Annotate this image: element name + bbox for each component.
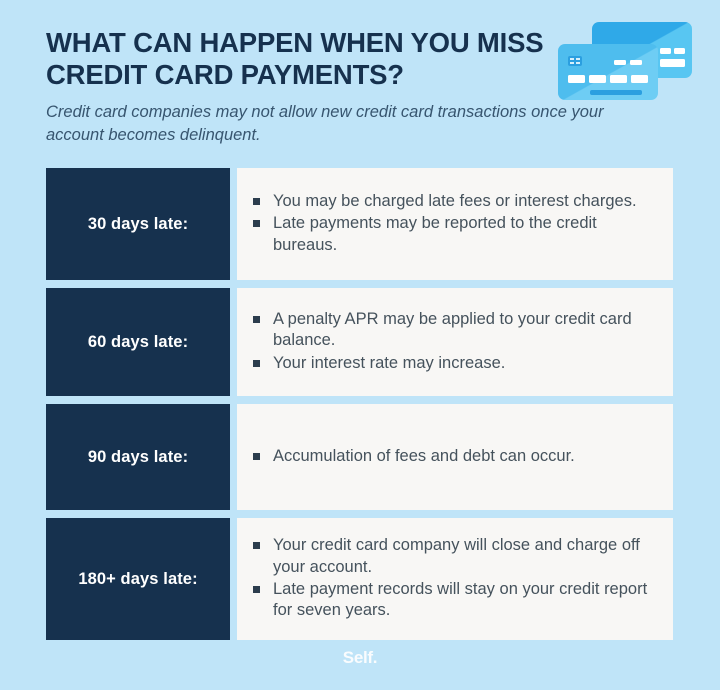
square-bullet-icon	[253, 360, 260, 367]
list-item-text: Late payments may be reported to the cre…	[273, 214, 597, 253]
consequences-table: 30 days late: You may be charged late fe…	[46, 168, 673, 640]
row-label-30-days: 30 days late:	[46, 168, 230, 280]
row-label-60-days: 60 days late:	[46, 288, 230, 396]
row-label-180-days: 180+ days late:	[46, 518, 230, 640]
list-item: Your interest rate may increase.	[251, 353, 655, 374]
table-row: 180+ days late: Your credit card company…	[46, 518, 673, 640]
list-item: Your credit card company will close and …	[251, 535, 655, 578]
brand-logo: Self.	[343, 648, 377, 667]
list-item: Late payments may be reported to the cre…	[251, 213, 655, 256]
list-item: Late payment records will stay on your c…	[251, 579, 655, 622]
row-body-180-days: Your credit card company will close and …	[237, 518, 673, 640]
table-row: 30 days late: You may be charged late fe…	[46, 168, 673, 280]
bullet-list: Your credit card company will close and …	[251, 535, 655, 623]
infographic-page: { "header": { "title": "WHAT CAN HAPPEN …	[0, 0, 720, 690]
list-item-text: You may be charged late fees or interest…	[273, 192, 637, 210]
square-bullet-icon	[253, 542, 260, 549]
list-item-text: A penalty APR may be applied to your cre…	[273, 310, 632, 349]
footer: Self.	[0, 648, 720, 668]
table-row: 90 days late: Accumulation of fees and d…	[46, 404, 673, 510]
row-body-30-days: You may be charged late fees or interest…	[237, 168, 673, 280]
row-body-90-days: Accumulation of fees and debt can occur.	[237, 404, 673, 510]
page-title: WHAT CAN HAPPEN WHEN YOU MISS CREDIT CAR…	[46, 27, 566, 92]
list-item-text: Your credit card company will close and …	[273, 536, 640, 575]
bullet-list: Accumulation of fees and debt can occur.	[251, 446, 655, 468]
credit-cards-icon	[556, 20, 696, 112]
table-row: 60 days late: A penalty APR may be appli…	[46, 288, 673, 396]
bullet-list: A penalty APR may be applied to your cre…	[251, 309, 655, 375]
square-bullet-icon	[253, 198, 260, 205]
page-subtitle: Credit card companies may not allow new …	[46, 101, 606, 148]
list-item: You may be charged late fees or interest…	[251, 191, 655, 212]
square-bullet-icon	[253, 586, 260, 593]
square-bullet-icon	[253, 453, 260, 460]
list-item-text: Accumulation of fees and debt can occur.	[273, 447, 575, 465]
header: WHAT CAN HAPPEN WHEN YOU MISS CREDIT CAR…	[0, 0, 720, 168]
square-bullet-icon	[253, 220, 260, 227]
list-item: Accumulation of fees and debt can occur.	[251, 446, 655, 467]
square-bullet-icon	[253, 316, 260, 323]
row-label-90-days: 90 days late:	[46, 404, 230, 510]
list-item: A penalty APR may be applied to your cre…	[251, 309, 655, 352]
row-body-60-days: A penalty APR may be applied to your cre…	[237, 288, 673, 396]
list-item-text: Late payment records will stay on your c…	[273, 580, 647, 619]
list-item-text: Your interest rate may increase.	[273, 354, 505, 372]
bullet-list: You may be charged late fees or interest…	[251, 191, 655, 257]
